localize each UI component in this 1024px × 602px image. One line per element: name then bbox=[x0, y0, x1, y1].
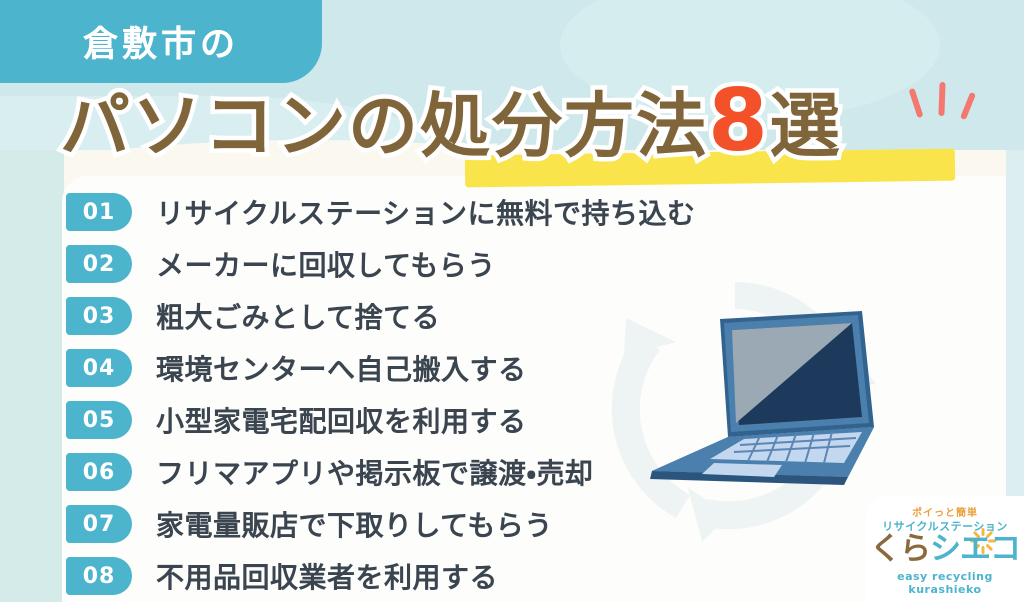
list-item[interactable]: 08 不用品回収業者を利用する bbox=[66, 550, 966, 602]
brand-logo[interactable]: ポイっと簡単 リサイクルステーション くらシエコ easy recycling … bbox=[866, 496, 1024, 602]
list-item-badge: 04 bbox=[66, 349, 132, 387]
list-item-label: リサイクルステーションに無料で持ち込む bbox=[156, 192, 696, 232]
logo-english-line2: kurashieko bbox=[866, 583, 1024, 596]
poster-root: 倉敷市の パソコンの処分方法8選 01 リサイクルステーションに無料で持ち込む … bbox=[0, 0, 1024, 602]
list-item[interactable]: 06 フリマアプリや掲示板で譲渡・売却 bbox=[66, 446, 966, 498]
logo-english-line1: easy recycling bbox=[866, 570, 1024, 583]
list-item[interactable]: 04 環境センターへ自己搬入する bbox=[66, 342, 966, 394]
list-item[interactable]: 07 家電量販店で下取りしてもらう bbox=[66, 498, 966, 550]
list-item[interactable]: 01 リサイクルステーションに無料で持ち込む bbox=[66, 186, 966, 238]
list-item-badge: 06 bbox=[66, 453, 132, 491]
list-item-label: 環境センターへ自己搬入する bbox=[156, 348, 527, 388]
city-banner-label: 倉敷市の bbox=[83, 16, 239, 67]
method-list: 01 リサイクルステーションに無料で持ち込む 02 メーカーに回収してもらう 0… bbox=[66, 186, 966, 602]
list-item[interactable]: 02 メーカーに回収してもらう bbox=[66, 238, 966, 290]
city-banner: 倉敷市の bbox=[0, 0, 322, 83]
list-item-label: 家電量販店で下取りしてもらう bbox=[156, 504, 553, 544]
title-prefix: パソコンの処分方法 bbox=[60, 85, 708, 167]
spark-mark-2-icon bbox=[938, 82, 945, 116]
logo-wordmark-part1: くら bbox=[870, 531, 930, 567]
list-item-badge: 01 bbox=[66, 193, 132, 231]
list-item-badge: 02 bbox=[66, 245, 132, 283]
list-item-label: メーカーに回収してもらう bbox=[156, 244, 496, 284]
list-item-label: 不用品回収業者を利用する bbox=[156, 556, 498, 596]
list-item-label: フリマアプリや掲示板で譲渡・売却 bbox=[156, 452, 594, 492]
list-item[interactable]: 05 小型家電宅配回収を利用する bbox=[66, 394, 966, 446]
title-block: パソコンの処分方法8選 bbox=[60, 78, 1010, 178]
logo-wordmark-part2: シエコ bbox=[930, 531, 1020, 567]
list-item-badge: 03 bbox=[66, 297, 132, 335]
spark-mark-1-icon bbox=[909, 88, 924, 118]
background-left-mint-strip bbox=[0, 150, 64, 602]
title-suffix: 選 bbox=[770, 85, 842, 167]
list-item-label: 粗大ごみとして捨てる bbox=[156, 296, 440, 336]
list-item-badge: 08 bbox=[66, 557, 132, 595]
list-item-label: 小型家電宅配回収を利用する bbox=[156, 400, 527, 440]
logo-tagline: ポイっと簡単 bbox=[866, 504, 1024, 519]
page-title: パソコンの処分方法8選 bbox=[60, 78, 842, 164]
title-number: 8 bbox=[708, 71, 770, 171]
spark-mark-3-icon bbox=[960, 92, 976, 120]
list-item[interactable]: 03 粗大ごみとして捨てる bbox=[66, 290, 966, 342]
list-item-badge: 05 bbox=[66, 401, 132, 439]
logo-wordmark: くらシエコ bbox=[866, 534, 1024, 565]
list-item-badge: 07 bbox=[66, 505, 132, 543]
